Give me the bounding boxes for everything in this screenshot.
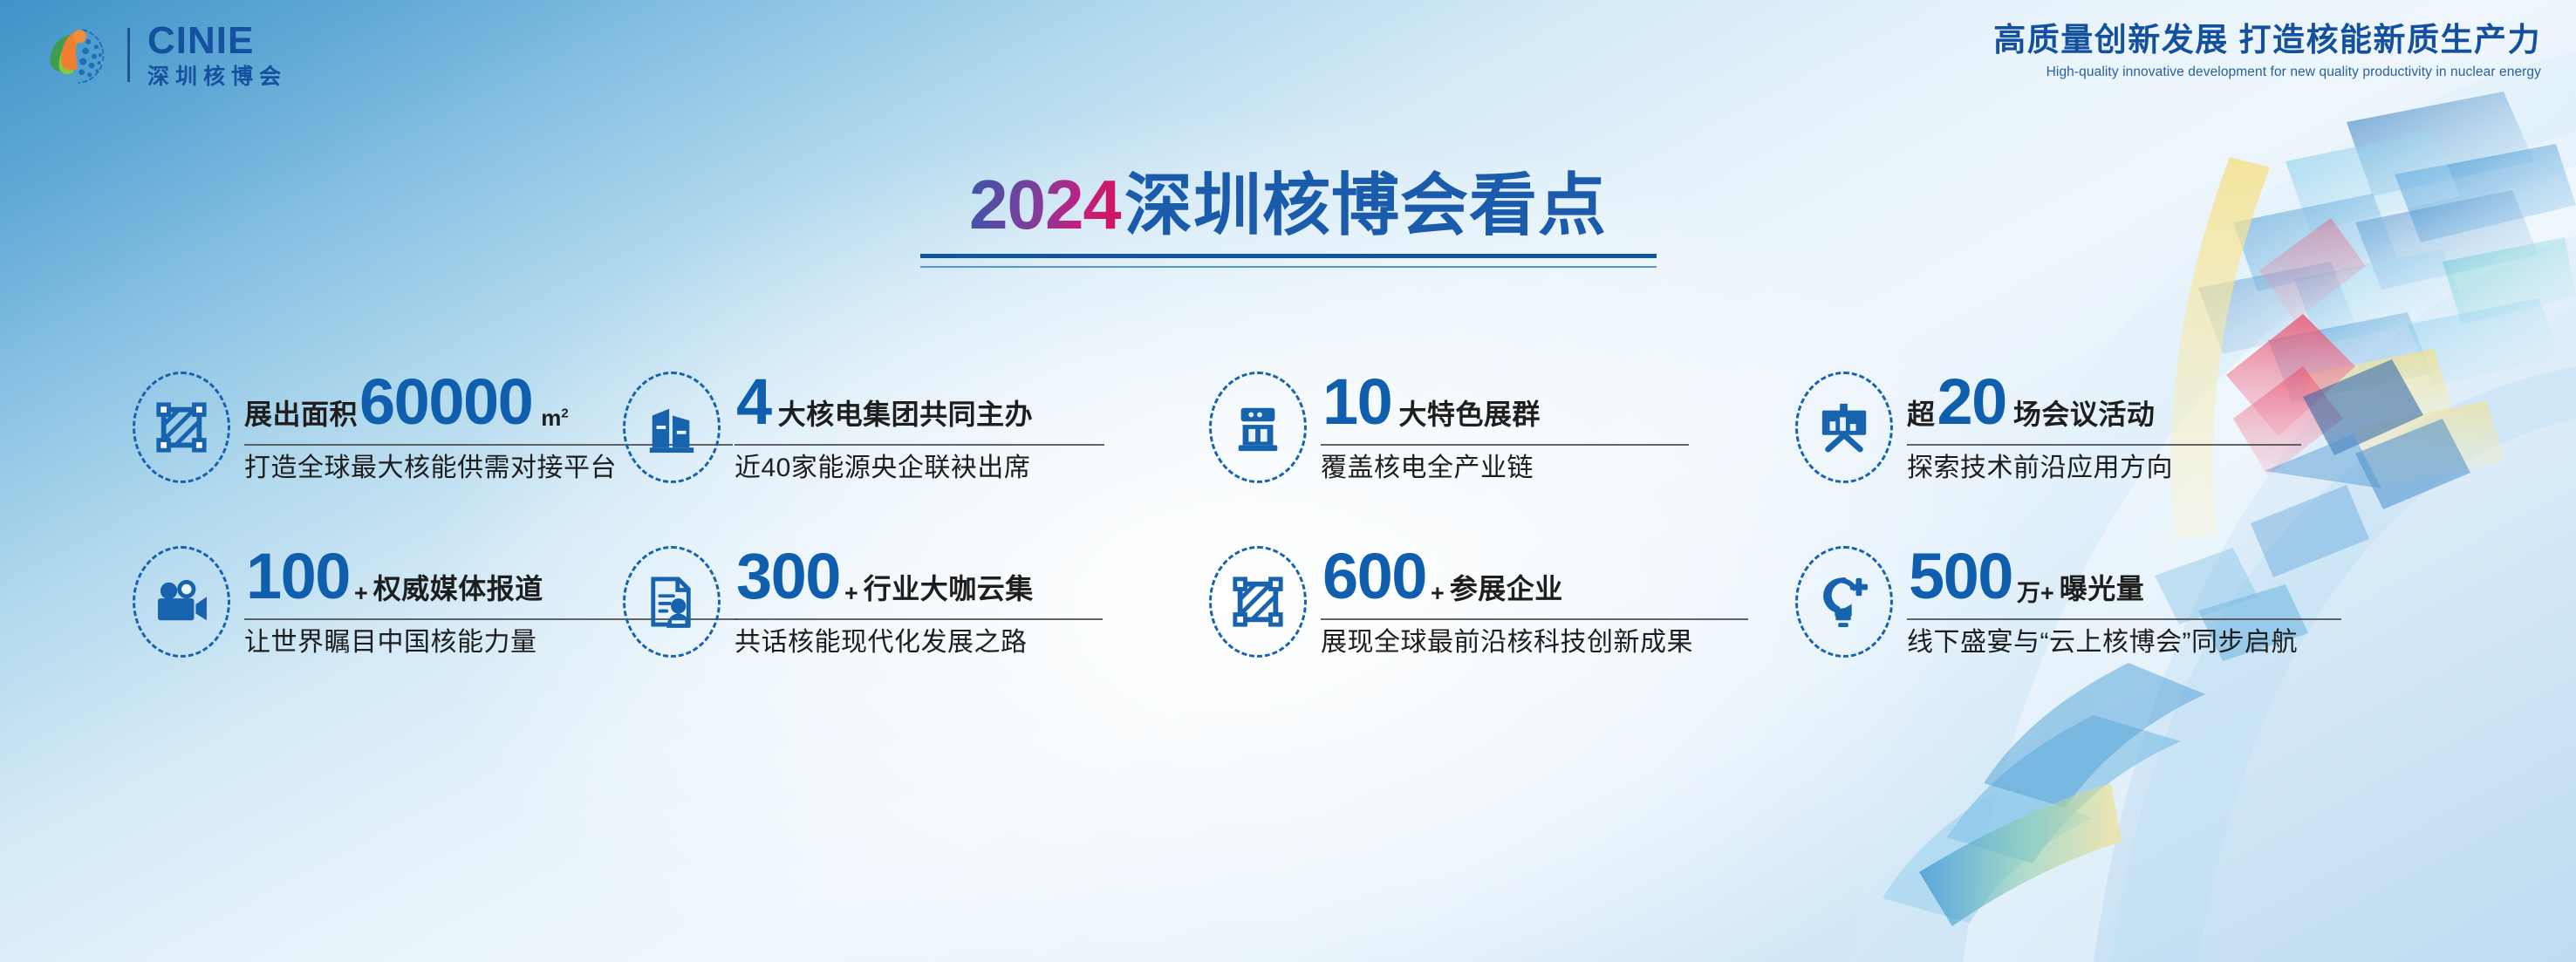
logo-divider (127, 28, 130, 82)
icon-ring (133, 372, 230, 483)
stat-subtitle: 线下盛宴与“云上核博会”同步启航 (1907, 628, 2341, 658)
stat-subtitle: 覆盖核电全产业链 (1321, 454, 1689, 484)
slogan-english: High-quality innovative development for … (1993, 65, 2541, 80)
slogan-block: 高质量创新发展 打造核能新质生产力 High-quality innovativ… (1993, 23, 2541, 80)
stat-item-exhibition-area[interactable]: 展出面积 60000 m2 打造全球最大核能供需对接平台 (0, 366, 586, 483)
stat-suffix: + (1431, 582, 1445, 609)
stat-label: 参展企业 (1450, 575, 1563, 603)
stat-item-zones[interactable]: 10 大特色展群 覆盖核电全产业链 (1172, 366, 1759, 483)
stat-number: 300 (736, 544, 840, 609)
icon-ring (623, 546, 721, 658)
stat-subtitle: 探索技术前沿应用方向 (1907, 454, 2301, 484)
stat-number: 500 (1909, 544, 2012, 609)
stat-label: 大核电集团共同主办 (778, 400, 1034, 428)
page-title: 2024深圳核博会看点 (0, 170, 2576, 268)
stat-label: 场会议活动 (2013, 400, 2156, 428)
stat-label: 大特色展群 (1398, 400, 1541, 428)
stat-item-exhibitors[interactable]: 600 + 参展企业 展现全球最前沿核科技创新成果 (1172, 541, 1759, 658)
cinie-emblem-icon (42, 22, 108, 88)
stats-row: 展出面积 60000 m2 打造全球最大核能供需对接平台 (0, 366, 2576, 483)
stat-divider (1321, 618, 1748, 620)
title-main-text: 深圳核博会看点 (1124, 167, 1607, 243)
video-camera-icon (154, 578, 208, 625)
stat-item-conferences[interactable]: 超 20 场会议活动 探索技术前沿应用方向 (1759, 366, 2369, 483)
stat-prefix: 超 (1907, 400, 1936, 428)
stats-grid: 展出面积 60000 m2 打造全球最大核能供需对接平台 (0, 366, 2576, 658)
stat-divider (735, 618, 1103, 620)
stat-subtitle: 展现全球最前沿核科技创新成果 (1321, 628, 1748, 658)
stat-divider (1907, 618, 2341, 620)
stat-subtitle: 共话核能现代化发展之路 (735, 628, 1103, 658)
stat-item-media[interactable]: 100 + 权威媒体报道 让世界瞩目中国核能力量 (0, 541, 586, 658)
slogan-chinese: 高质量创新发展 打造核能新质生产力 (1993, 23, 2541, 58)
icon-ring (1209, 372, 1307, 483)
stat-divider (1907, 444, 2301, 446)
exhibition-booth-icon (1233, 401, 1282, 454)
building-icon (646, 400, 697, 454)
stat-divider (1321, 444, 1689, 446)
icon-ring (1795, 546, 1893, 658)
presentation-board-icon (1818, 401, 1870, 454)
stat-number: 4 (736, 370, 771, 434)
icon-ring (1795, 372, 1893, 483)
stat-number: 10 (1322, 370, 1391, 434)
stat-item-host-groups[interactable]: 4 大核电集团共同主办 近40家能源央企联袂出席 (586, 366, 1172, 483)
icon-ring (1209, 546, 1307, 658)
logo-brand-cn-text: 深圳核博会 (147, 66, 287, 88)
stat-suffix: + (844, 582, 858, 609)
exhibition-area-icon (1231, 575, 1285, 629)
stat-unit: m2 (541, 406, 568, 434)
title-rule-thin (920, 266, 1657, 268)
title-underline (920, 254, 1657, 268)
stat-item-exposure[interactable]: 500 万+ 曝光量 线下盛宴与“云上核博会”同步启航 (1759, 541, 2369, 658)
stat-suffix: + (354, 582, 368, 609)
stat-item-speakers[interactable]: 300 + 行业大咖云集 共话核能现代化发展之路 (586, 541, 1172, 658)
speaker-profile-icon (648, 576, 695, 628)
stat-suffix: 万+ (2017, 582, 2054, 609)
lightbulb-plus-icon (1819, 575, 1869, 629)
stat-number: 100 (246, 544, 350, 609)
stat-number: 20 (1937, 370, 2006, 434)
stat-number: 60000 (359, 370, 532, 434)
logo-brand-text: CINIE (147, 22, 287, 60)
title-rule-thick (920, 254, 1657, 258)
icon-ring (623, 372, 721, 483)
stat-subtitle: 近40家能源央企联袂出席 (735, 454, 1104, 484)
stat-label: 曝光量 (2060, 575, 2145, 603)
stat-label: 行业大咖云集 (864, 575, 1034, 603)
stat-number: 600 (1322, 544, 1426, 609)
stats-row: 100 + 权威媒体报道 让世界瞩目中国核能力量 (0, 541, 2576, 658)
title-year: 2024 (969, 166, 1121, 243)
stat-divider (735, 444, 1104, 446)
infographic-poster: CINIE 深圳核博会 高质量创新发展 打造核能新质生产力 High-quali… (0, 0, 2576, 962)
exhibition-area-icon (154, 400, 208, 454)
icon-ring (133, 546, 230, 658)
stat-label: 权威媒体报道 (373, 575, 543, 603)
brand-logo[interactable]: CINIE 深圳核博会 (42, 19, 287, 91)
stat-prefix: 展出面积 (244, 400, 358, 428)
